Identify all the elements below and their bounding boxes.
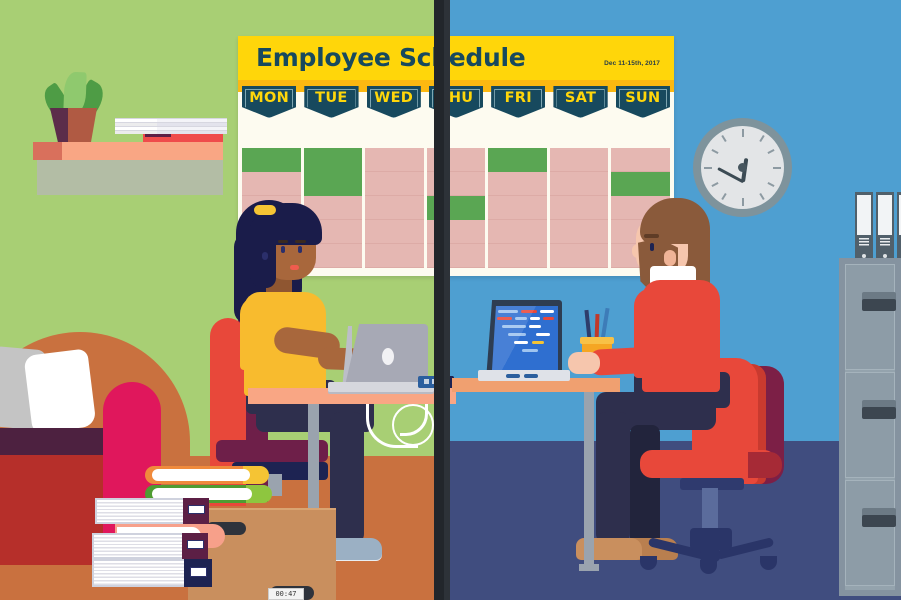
schedule-cell-busy[interactable] <box>242 148 301 172</box>
schedule-cell-free[interactable] <box>550 148 609 172</box>
right-desk-leg <box>584 392 594 570</box>
day-label: SUN <box>625 90 660 106</box>
binder-label <box>878 195 892 235</box>
woman-eye <box>298 246 302 253</box>
schedule-cell-free[interactable] <box>365 220 424 244</box>
day-label: MON <box>249 90 289 106</box>
man-torso <box>642 280 720 392</box>
screen-glare <box>492 306 558 370</box>
schedule-cell-empty[interactable] <box>611 124 670 148</box>
clock-center-pin <box>738 163 747 172</box>
schedule-cell-busy[interactable] <box>611 172 670 196</box>
schedule-cell-empty[interactable] <box>242 124 301 148</box>
right-chair-seat-shade <box>748 452 782 478</box>
binder <box>897 192 901 264</box>
schedule-cell-free[interactable] <box>611 148 670 172</box>
woman-eyebrow <box>278 240 288 243</box>
schedule-cell-empty[interactable] <box>365 124 424 148</box>
day-label: SAT <box>565 90 596 106</box>
day-label: TUE <box>315 90 347 106</box>
office-illustration-scene: Employee Schedule Dec 11-15th, 2017 MON … <box>0 0 901 600</box>
day-badge-sat[interactable]: SAT <box>553 86 607 118</box>
day-header-row: MON TUE WED THU FRI SAT SUN <box>238 86 674 118</box>
cabinet-drawer <box>845 372 895 478</box>
book-spine-label <box>188 505 205 514</box>
schedule-cell-free[interactable] <box>550 196 609 220</box>
day-badge-wed[interactable]: WED <box>367 86 421 118</box>
schedule-cell-empty[interactable] <box>550 124 609 148</box>
shelf-paper <box>157 130 227 134</box>
filing-cabinet <box>839 258 901 596</box>
schedule-column-wed[interactable] <box>365 124 424 268</box>
schedule-cell-free[interactable] <box>365 196 424 220</box>
woman-eyebrow <box>295 240 306 243</box>
wall-corner-highlight <box>444 0 450 600</box>
schedule-column-fri[interactable] <box>488 124 547 268</box>
man-hand <box>568 352 600 374</box>
schedule-cell-free[interactable] <box>488 172 547 196</box>
schedule-cell-empty[interactable] <box>304 124 363 148</box>
timer-chip: 00:47 <box>268 588 304 600</box>
binder <box>876 192 894 264</box>
woman-earring <box>262 252 268 260</box>
book-spine-label <box>187 540 204 549</box>
day-badge-tue[interactable]: TUE <box>304 86 358 118</box>
schedule-cell-busy[interactable] <box>304 148 363 172</box>
drawer-handle <box>862 515 896 527</box>
binder-lines-icon <box>880 238 890 247</box>
shelf-shadow <box>37 160 223 195</box>
page-title: Employee Schedule <box>256 43 525 72</box>
day-badge-sun[interactable]: SUN <box>616 86 670 118</box>
laptop-port-icon <box>506 374 520 378</box>
woman-eye <box>281 246 285 253</box>
schedule-cell-free[interactable] <box>488 244 547 268</box>
cabinet-drawer <box>845 480 895 586</box>
book-spine-label <box>190 567 207 577</box>
binder <box>855 192 873 264</box>
drawer-handle <box>862 407 896 419</box>
schedule-cell-busy[interactable] <box>488 148 547 172</box>
schedule-column-sat[interactable] <box>550 124 609 268</box>
book-pages <box>97 500 183 522</box>
shelf-bracket <box>33 142 62 160</box>
laptop-logo-icon <box>382 348 394 365</box>
man-eyebrow <box>644 234 659 238</box>
pencil-cup-rim <box>580 337 614 344</box>
binder-label <box>857 195 871 235</box>
schedule-cell-free[interactable] <box>488 196 547 220</box>
schedule-cell-free[interactable] <box>365 172 424 196</box>
day-label: WED <box>374 90 413 106</box>
drawer-handle <box>862 299 896 311</box>
book-pages <box>94 535 182 557</box>
schedule-cell-free[interactable] <box>365 244 424 268</box>
right-chair-hub <box>690 528 732 550</box>
book-pages <box>94 561 184 585</box>
schedule-date-range: Dec 11-15th, 2017 <box>586 60 660 67</box>
schedule-cell-busy[interactable] <box>304 172 363 196</box>
schedule-cell-free[interactable] <box>550 172 609 196</box>
book-pages <box>152 469 250 481</box>
day-badge-mon[interactable]: MON <box>242 86 296 118</box>
schedule-cell-free[interactable] <box>365 148 424 172</box>
day-label: FRI <box>505 90 532 106</box>
binder-lines-icon <box>859 238 869 247</box>
schedule-cell-empty[interactable] <box>488 124 547 148</box>
laptop-port-icon <box>524 374 538 378</box>
shelf-paper <box>115 130 159 134</box>
schedule-cell-free[interactable] <box>550 220 609 244</box>
man-shin <box>596 412 630 544</box>
right-desk-foot <box>579 564 599 571</box>
man-ear <box>664 250 676 266</box>
schedule-cell-free[interactable] <box>488 220 547 244</box>
day-badge-fri[interactable]: FRI <box>491 86 545 118</box>
white-pillow <box>23 348 96 433</box>
woman-mouth <box>290 265 299 270</box>
schedule-cell-free[interactable] <box>550 244 609 268</box>
man-shin-back <box>630 425 660 545</box>
woman-hairband <box>254 205 276 215</box>
schedule-cell-free[interactable] <box>242 172 301 196</box>
cabinet-drawer <box>845 264 895 370</box>
man-eye <box>650 243 654 251</box>
floor-circle-outline <box>392 404 434 446</box>
